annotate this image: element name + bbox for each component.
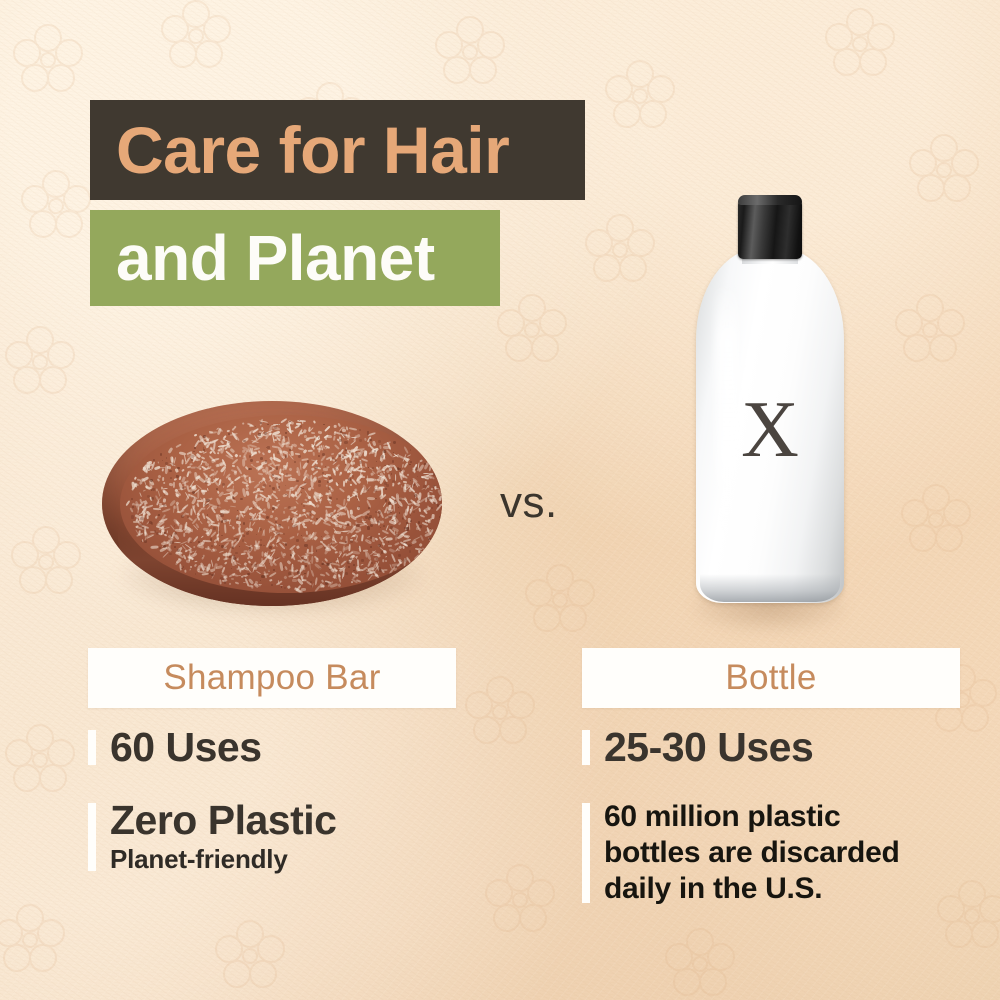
bottle-cap [738,197,802,259]
product-label-text: Bottle [725,658,816,698]
bottle-x-mark: X [690,390,850,470]
fact-right-waste-line: bottles are discarded [604,835,960,871]
shampoo-bar-image [88,385,458,630]
fact-left-plastic-headline: Zero Plastic [110,799,456,842]
comparison-column-left: Shampoo Bar 60 Uses Zero Plastic Planet-… [88,648,456,875]
product-label-bottle: Bottle [582,648,960,708]
fact-right-waste-body: 60 million plastic bottles are discarded… [604,799,960,907]
fact-right-waste: 60 million plastic bottles are discarded… [582,799,960,907]
headline-line-2-text: and Planet [90,226,435,290]
headline-line-1: Care for Hair [90,100,585,200]
shampoo-bar-disc [102,401,442,606]
fact-right-uses-headline: 25-30 Uses [604,726,960,769]
bottle-base-shading [700,574,840,602]
shampoo-bar-flakes [120,415,442,593]
fact-right-uses: 25-30 Uses [582,726,960,769]
plastic-bottle-image: X [690,190,850,640]
shampoo-bar-top-face [120,415,442,593]
fact-right-waste-line: daily in the U.S. [604,871,960,907]
accent-rule [88,803,96,870]
fact-left-uses: 60 Uses [88,726,456,769]
fact-left-uses-headline: 60 Uses [110,726,456,769]
fact-left-plastic-sub: Planet-friendly [110,845,456,875]
headline-line-2: and Planet [90,210,500,306]
fact-right-waste-line: 60 million plastic [604,799,960,835]
accent-rule [88,730,96,765]
product-label-text: Shampoo Bar [163,658,380,698]
vs-separator: vs. [500,478,558,528]
comparison-column-right: Bottle 25-30 Uses 60 million plastic bot… [582,648,960,907]
infographic-canvas: Care for Hair and Planet vs. X Shampoo B… [0,0,1000,1000]
accent-rule [582,803,590,903]
product-label-shampoo-bar: Shampoo Bar [88,648,456,708]
fact-left-plastic: Zero Plastic Planet-friendly [88,799,456,874]
headline-line-1-text: Care for Hair [90,117,509,183]
accent-rule [582,730,590,765]
bottle-cap-top [738,195,802,205]
